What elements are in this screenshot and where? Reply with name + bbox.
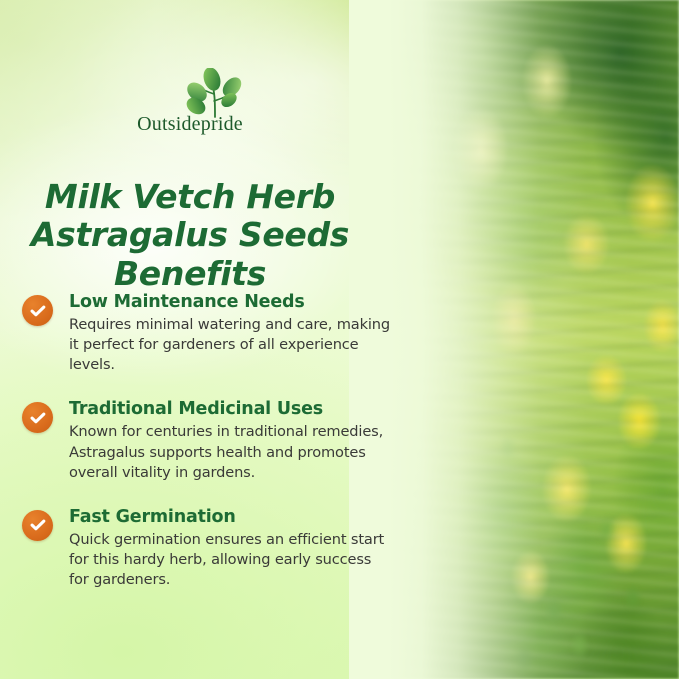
list-item: Low Maintenance Needs Requires minimal w… — [22, 292, 392, 375]
content-panel: Outsidepride Milk Vetch Herb Astragalus … — [0, 0, 420, 679]
benefit-description: Known for centuries in traditional remed… — [69, 422, 392, 482]
list-item: Fast Germination Quick germination ensur… — [22, 507, 392, 590]
check-circle-icon — [22, 295, 53, 326]
benefit-description: Quick germination ensures an efficient s… — [69, 530, 392, 590]
benefit-title: Traditional Medicinal Uses — [69, 399, 392, 420]
check-circle-icon — [22, 402, 53, 433]
list-item: Traditional Medicinal Uses Known for cen… — [22, 399, 392, 482]
check-circle-icon — [22, 510, 53, 541]
benefits-list: Low Maintenance Needs Requires minimal w… — [22, 292, 392, 590]
benefit-title: Fast Germination — [69, 507, 392, 528]
title-line-3: Benefits — [0, 255, 380, 293]
leaf-sprig-icon — [0, 68, 380, 118]
benefit-title: Low Maintenance Needs — [69, 292, 392, 313]
infographic-card: Outsidepride Milk Vetch Herb Astragalus … — [0, 0, 679, 679]
brand-logo[interactable]: Outsidepride — [0, 68, 380, 134]
benefit-description: Requires minimal watering and care, maki… — [69, 315, 392, 375]
title-line-2: Astragalus Seeds — [0, 216, 380, 254]
page-title: Milk Vetch Herb Astragalus Seeds Benefit… — [0, 178, 380, 293]
title-line-1: Milk Vetch Herb — [0, 178, 380, 216]
